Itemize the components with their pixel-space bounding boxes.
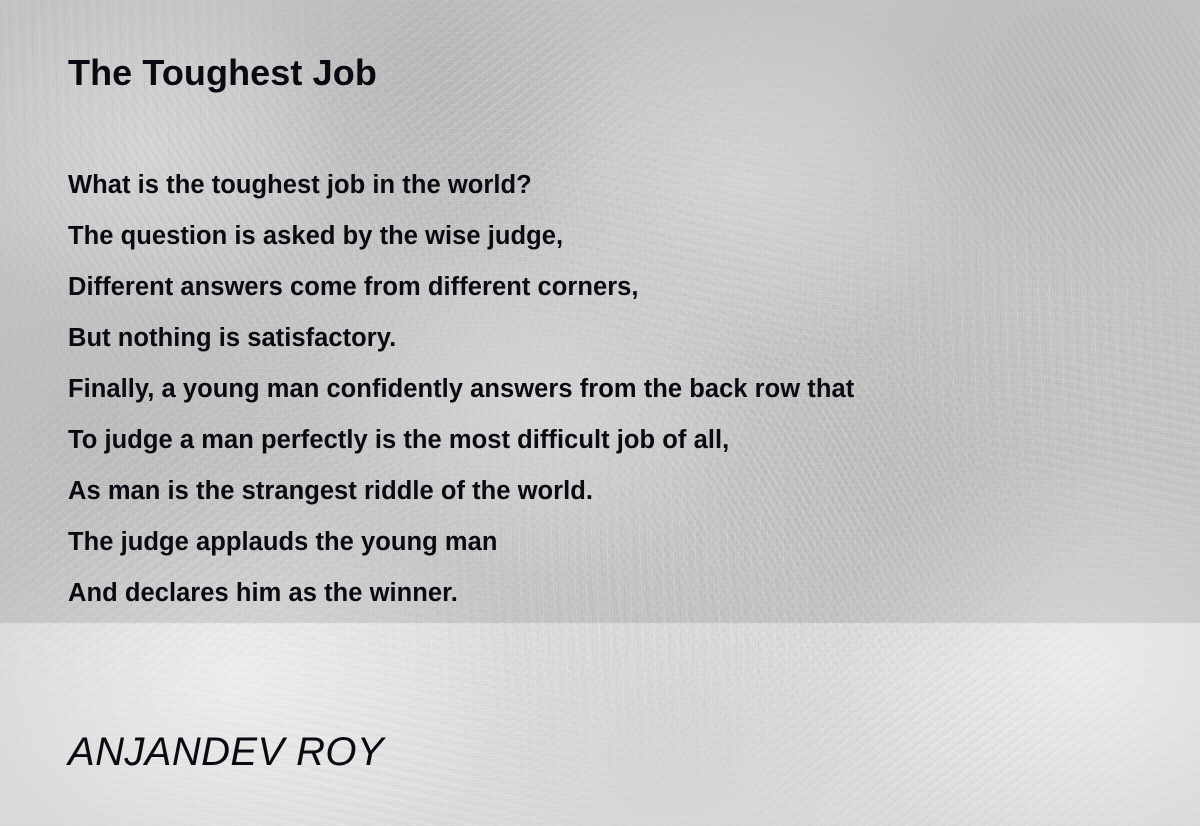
poem-line: And declares him as the winner.	[68, 568, 1158, 619]
poem-line: Different answers come from different co…	[68, 262, 1158, 313]
poem-card: The Toughest Job What is the toughest jo…	[0, 0, 1200, 826]
poem-line: What is the toughest job in the world?	[68, 160, 1158, 211]
poem-line: As man is the strangest riddle of the wo…	[68, 466, 1158, 517]
poem-line: The judge applauds the young man	[68, 517, 1158, 568]
poem-line: Finally, a young man confidently answers…	[68, 364, 1158, 415]
poem-content: The Toughest Job What is the toughest jo…	[0, 0, 1200, 826]
poem-line: The question is asked by the wise judge,	[68, 211, 1158, 262]
poem-line: But nothing is satisfactory.	[68, 313, 1158, 364]
page-title: The Toughest Job	[68, 52, 377, 94]
poem-body: What is the toughest job in the world? T…	[68, 160, 1158, 619]
poem-line: To judge a man perfectly is the most dif…	[68, 415, 1158, 466]
author-name: ANJANDEV ROY	[68, 730, 384, 775]
